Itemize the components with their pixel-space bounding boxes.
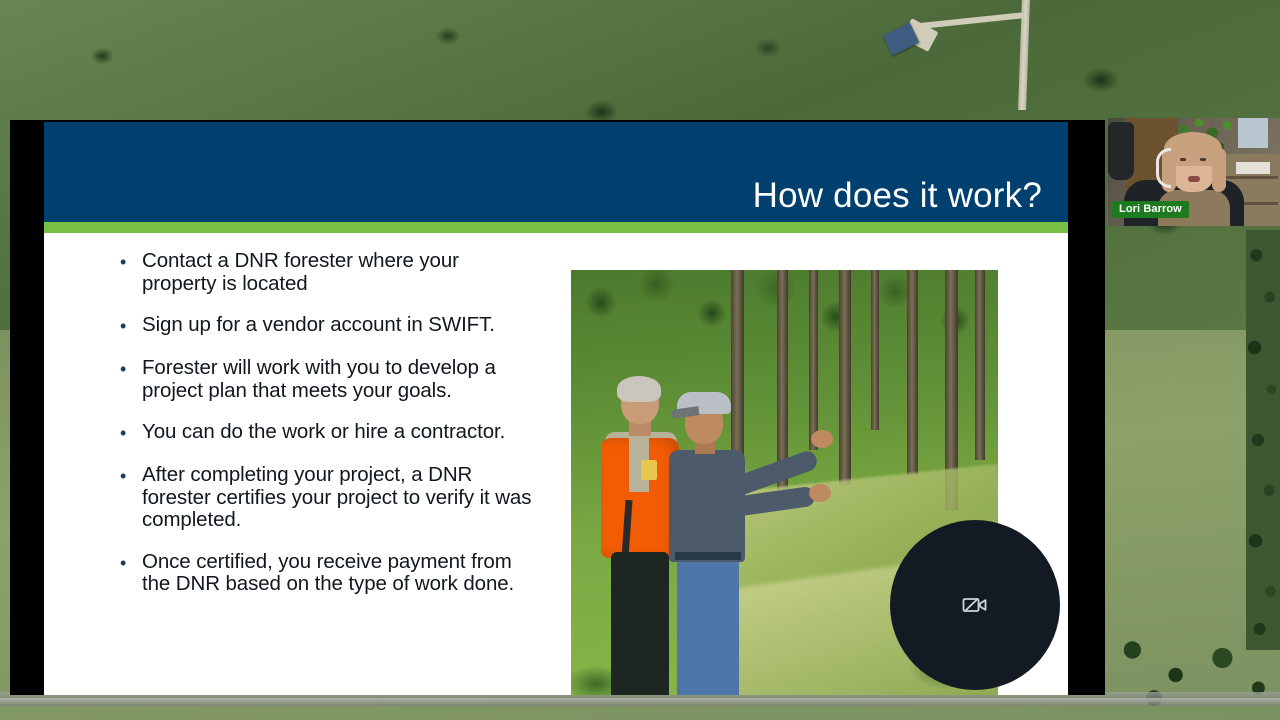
screen-share-stage: How does it work? • Contact a DNR forest… xyxy=(0,0,1280,720)
photo-tree-trunk xyxy=(907,270,918,475)
aerial-treeline xyxy=(1246,230,1280,650)
list-item: • Forester will work with you to develop… xyxy=(116,357,536,402)
camera-off-icon xyxy=(962,595,988,615)
bullet-text: Contact a DNR forester where your proper… xyxy=(142,250,536,295)
webcam-hanging-coat xyxy=(1108,122,1134,180)
webcam-participant-mouth xyxy=(1188,176,1200,182)
bullet-text: Forester will work with you to develop a… xyxy=(142,357,536,402)
webcam-shelf-divider xyxy=(1222,176,1278,179)
bullet-text: Sign up for a vendor account in SWIFT. xyxy=(142,314,536,337)
webcam-headset-icon xyxy=(1156,148,1171,188)
list-item: • After completing your project, a DNR f… xyxy=(116,464,536,532)
bullet-marker-icon: • xyxy=(116,357,142,381)
list-item: • You can do the work or hire a contract… xyxy=(116,421,536,445)
list-item: • Once certified, you receive payment fr… xyxy=(116,551,536,596)
slide-accent-bar xyxy=(44,222,1068,233)
webcam-participant-eye-left xyxy=(1180,158,1186,161)
forester-badge-icon xyxy=(641,460,657,480)
slide-header-band: How does it work? xyxy=(44,122,1068,222)
participant-name-badge: Lori Barrow xyxy=(1112,201,1189,218)
slide-title: How does it work? xyxy=(753,176,1042,216)
list-item: • Contact a DNR forester where your prop… xyxy=(116,250,536,295)
forester-trousers xyxy=(611,552,669,695)
participant-video-tile[interactable]: Lori Barrow xyxy=(1108,118,1280,226)
webcam-participant-eye-right xyxy=(1200,158,1206,161)
aerial-lower-road xyxy=(0,698,1280,706)
bullet-text: After completing your project, a DNR for… xyxy=(142,464,536,532)
landowner-jeans xyxy=(677,556,739,695)
landowner-belt xyxy=(675,552,741,560)
forester-hair xyxy=(617,376,661,402)
landowner-raised-hand xyxy=(811,430,833,448)
list-item: • Sign up for a vendor account in SWIFT. xyxy=(116,314,536,338)
bullet-marker-icon: • xyxy=(116,551,142,575)
bullet-marker-icon: • xyxy=(116,314,142,338)
photo-tree-trunk xyxy=(975,270,985,460)
slide-bullet-list: • Contact a DNR forester where your prop… xyxy=(116,250,536,615)
photo-landowner xyxy=(663,392,843,695)
bullet-marker-icon: • xyxy=(116,421,142,445)
self-view-avatar[interactable] xyxy=(890,520,1060,690)
landowner-lower-hand xyxy=(809,484,831,502)
bullet-marker-icon: • xyxy=(116,250,142,274)
bullet-text: You can do the work or hire a contractor… xyxy=(142,421,536,444)
webcam-shelf-papers xyxy=(1236,162,1270,174)
webcam-participant-hair-right xyxy=(1212,148,1226,192)
webcam-window xyxy=(1238,118,1268,148)
photo-tree-trunk xyxy=(871,270,879,430)
bullet-text: Once certified, you receive payment from… xyxy=(142,551,536,596)
bullet-marker-icon: • xyxy=(116,464,142,488)
